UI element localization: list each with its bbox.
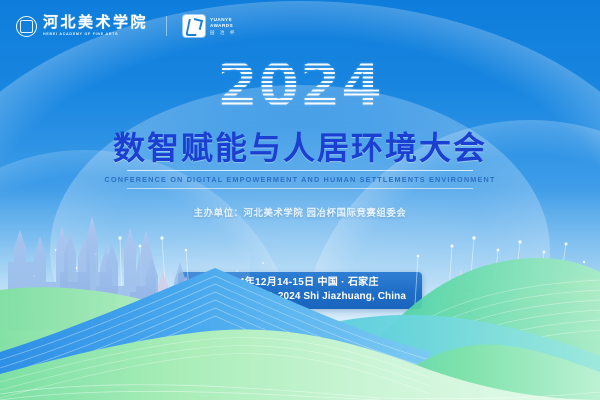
conference-poster: 河北美术学院 HEBEI ACADEMY OF FINE ARTS YUANYE…: [0, 0, 600, 400]
landscape-illustration: [0, 0, 600, 400]
